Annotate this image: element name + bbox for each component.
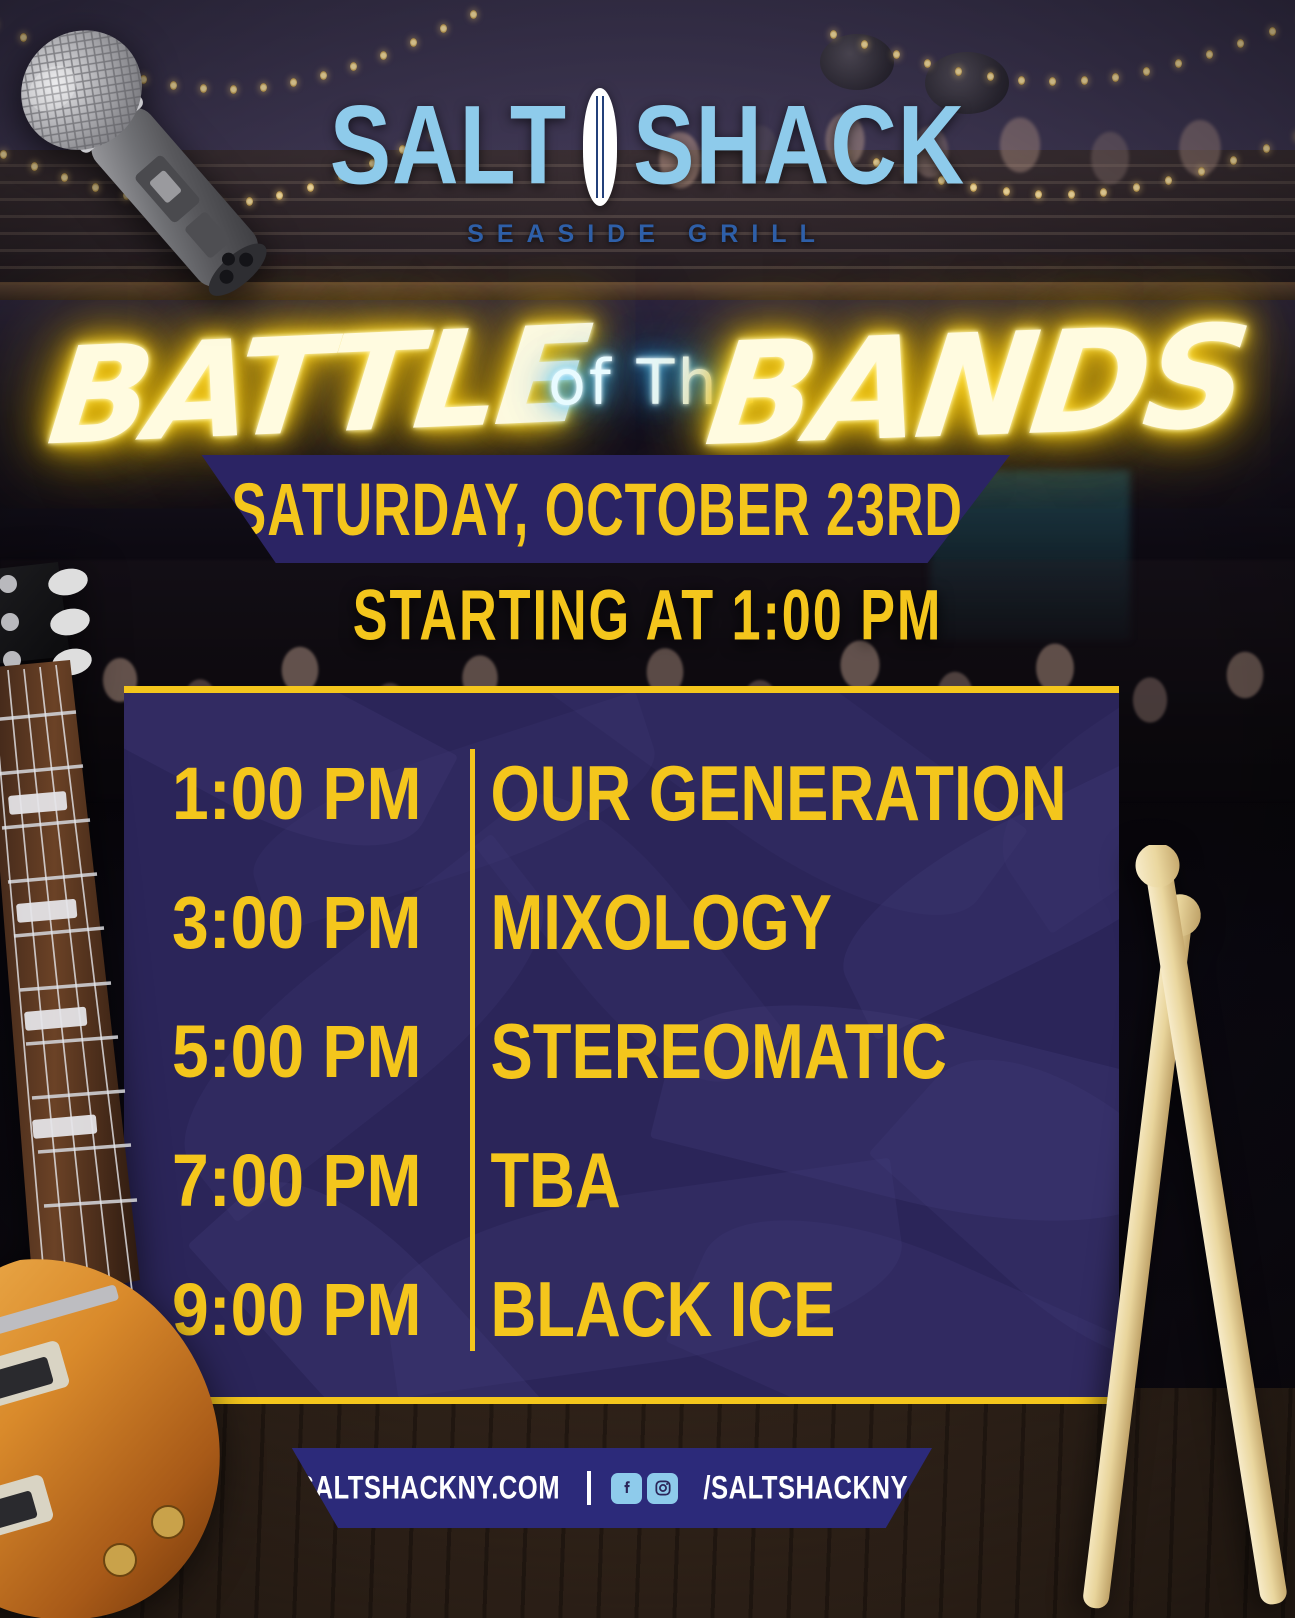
title-word-bands: BANDS [699,295,1254,478]
facebook-icon[interactable] [611,1473,642,1504]
schedule-panel: 1:00 PMOUR GENERATION3:00 PMMIXOLOGY5:00… [124,686,1119,1404]
footer-separator [587,1471,591,1505]
electric-guitar-icon [0,560,260,1618]
logo-word-shack: SHACK [633,94,965,201]
schedule-band-name: TBA [454,1135,621,1225]
schedule-divider [470,749,475,1351]
schedule-band-name: STEREOMATIC [454,1006,947,1096]
instagram-icon[interactable] [647,1473,678,1504]
schedule-row: 1:00 PMOUR GENERATION [124,737,1119,849]
schedule-band-name: OUR GENERATION [454,749,1067,839]
event-date: SATURDAY, OCTOBER 23RD [232,466,963,552]
logo-tagline: SEASIDE GRILL [467,220,828,249]
schedule-list: 1:00 PMOUR GENERATION3:00 PMMIXOLOGY5:00… [124,693,1119,1397]
website-url[interactable]: SALTSHACKNY.COM [297,1469,560,1506]
drumsticks-icon [1055,845,1295,1618]
schedule-row: 7:00 PMTBA [124,1124,1119,1236]
event-poster: SALT SHACK SEASIDE GRILL BATTLE of The B… [0,0,1295,1618]
schedule-band-name: MIXOLOGY [454,877,832,967]
social-handle[interactable]: /SALTSHACKNY [704,1469,909,1506]
footer-banner: SALTSHACKNY.COM /SALTSHACKNY [272,1448,932,1528]
surfboard-icon [583,88,617,206]
logo-word-salt: SALT [330,94,567,201]
date-ribbon: SATURDAY, OCTOBER 23RD [185,455,1010,563]
schedule-row: 5:00 PMSTEREOMATIC [124,995,1119,1107]
schedule-band-name: BLACK ICE [454,1264,835,1354]
schedule-row: 9:00 PMBLACK ICE [124,1253,1119,1365]
schedule-row: 3:00 PMMIXOLOGY [124,866,1119,978]
social-icons [611,1473,678,1504]
microphone-icon [0,0,338,352]
